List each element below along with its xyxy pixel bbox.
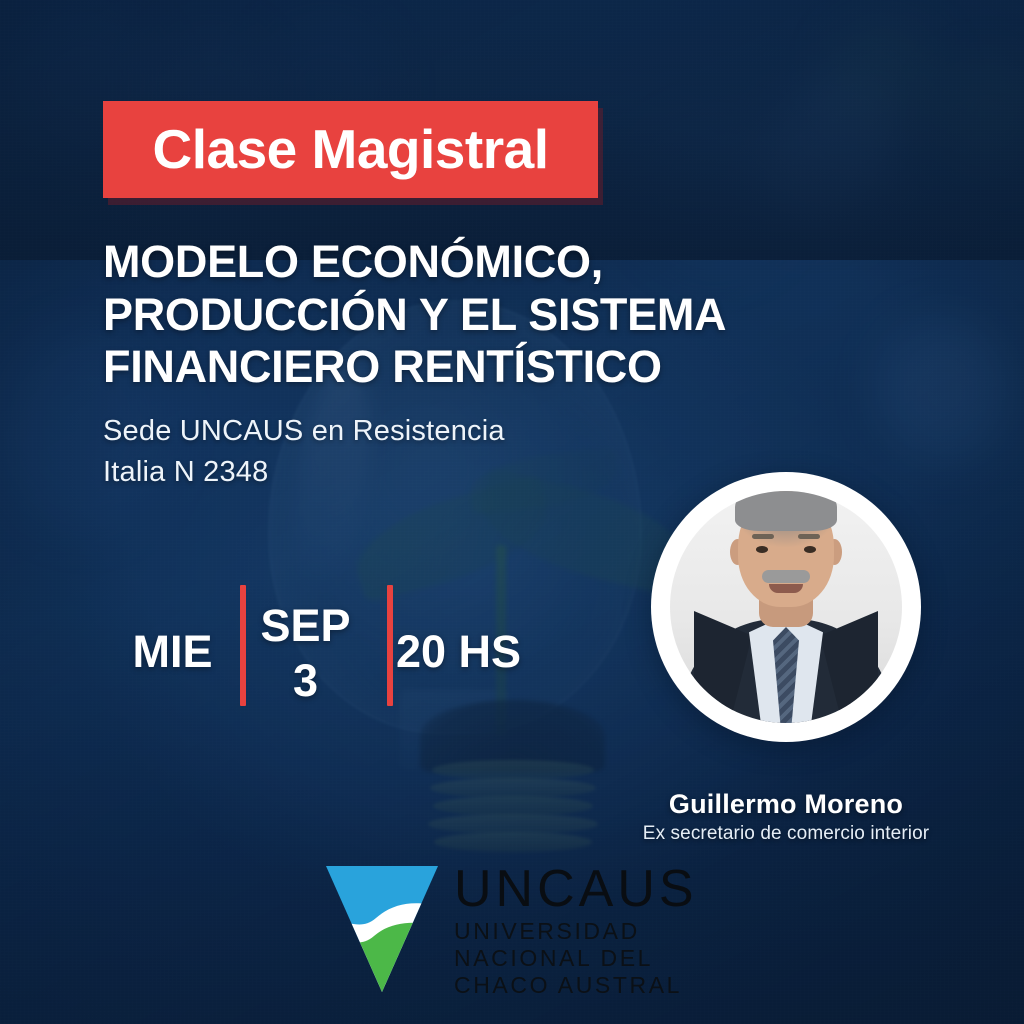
schedule-divider-2 (387, 585, 393, 706)
speaker-name: Guillermo Moreno (596, 789, 976, 820)
event-poster: Clase Magistral MODELO ECONÓMICO, PRODUC… (0, 0, 1024, 1024)
schedule-date: 3 (248, 658, 363, 703)
banner-label: Clase Magistral (152, 122, 548, 177)
uncaus-triangle-icon (326, 866, 438, 992)
clase-magistral-banner: Clase Magistral (103, 101, 598, 198)
schedule-time: 20 HS (396, 629, 571, 674)
speaker-role: Ex secretario de comercio interior (596, 822, 976, 846)
schedule-month: SEP (248, 603, 363, 648)
venue-address: Sede UNCAUS en Resistencia Italia N 2348 (103, 411, 505, 493)
uncaus-logo: UNCAUS UNIVERSIDAD NACIONAL DEL CHACO AU… (326, 866, 698, 999)
uncaus-acronym: UNCAUS (454, 866, 698, 914)
uncaus-logo-text: UNCAUS UNIVERSIDAD NACIONAL DEL CHACO AU… (454, 866, 698, 999)
event-title-line-1: MODELO ECONÓMICO, (103, 236, 803, 289)
speaker-caption: Guillermo Moreno Ex secretario de comerc… (596, 789, 976, 846)
uncaus-fullname: UNIVERSIDAD NACIONAL DEL CHACO AUSTRAL (454, 918, 698, 999)
speaker-portrait (670, 491, 902, 723)
uncaus-fullname-line-1: UNIVERSIDAD (454, 918, 698, 945)
speaker-avatar (651, 472, 921, 742)
venue-line-2: Italia N 2348 (103, 452, 505, 493)
uncaus-fullname-line-3: CHACO AUSTRAL (454, 972, 698, 999)
event-title: MODELO ECONÓMICO, PRODUCCIÓN Y EL SISTEM… (103, 236, 803, 394)
event-title-line-2: PRODUCCIÓN Y EL SISTEMA (103, 289, 803, 342)
venue-line-1: Sede UNCAUS en Resistencia (103, 411, 505, 452)
uncaus-fullname-line-2: NACIONAL DEL (454, 945, 698, 972)
schedule-divider-1 (240, 585, 246, 706)
schedule-strip: MIE SEP 3 20 HS (120, 583, 560, 708)
event-title-line-3: FINANCIERO RENTÍSTICO (103, 341, 803, 394)
schedule-weekday: MIE (120, 629, 225, 674)
